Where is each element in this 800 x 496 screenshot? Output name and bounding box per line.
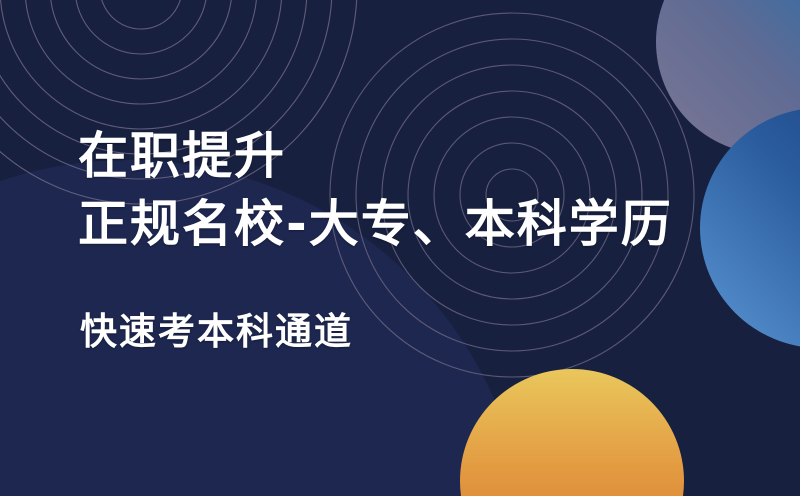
headline-line-1: 在职提升 <box>78 122 778 190</box>
headline: 在职提升 正规名校-大专、本科学历 <box>78 122 778 258</box>
banner-copy: 在职提升 正规名校-大专、本科学历 快速考本科通道 <box>78 0 778 496</box>
subline: 快速考本科通道 <box>80 306 353 358</box>
headline-line-2: 正规名校-大专、本科学历 <box>78 190 778 258</box>
promo-banner: 在职提升 正规名校-大专、本科学历 快速考本科通道 <box>0 0 800 496</box>
